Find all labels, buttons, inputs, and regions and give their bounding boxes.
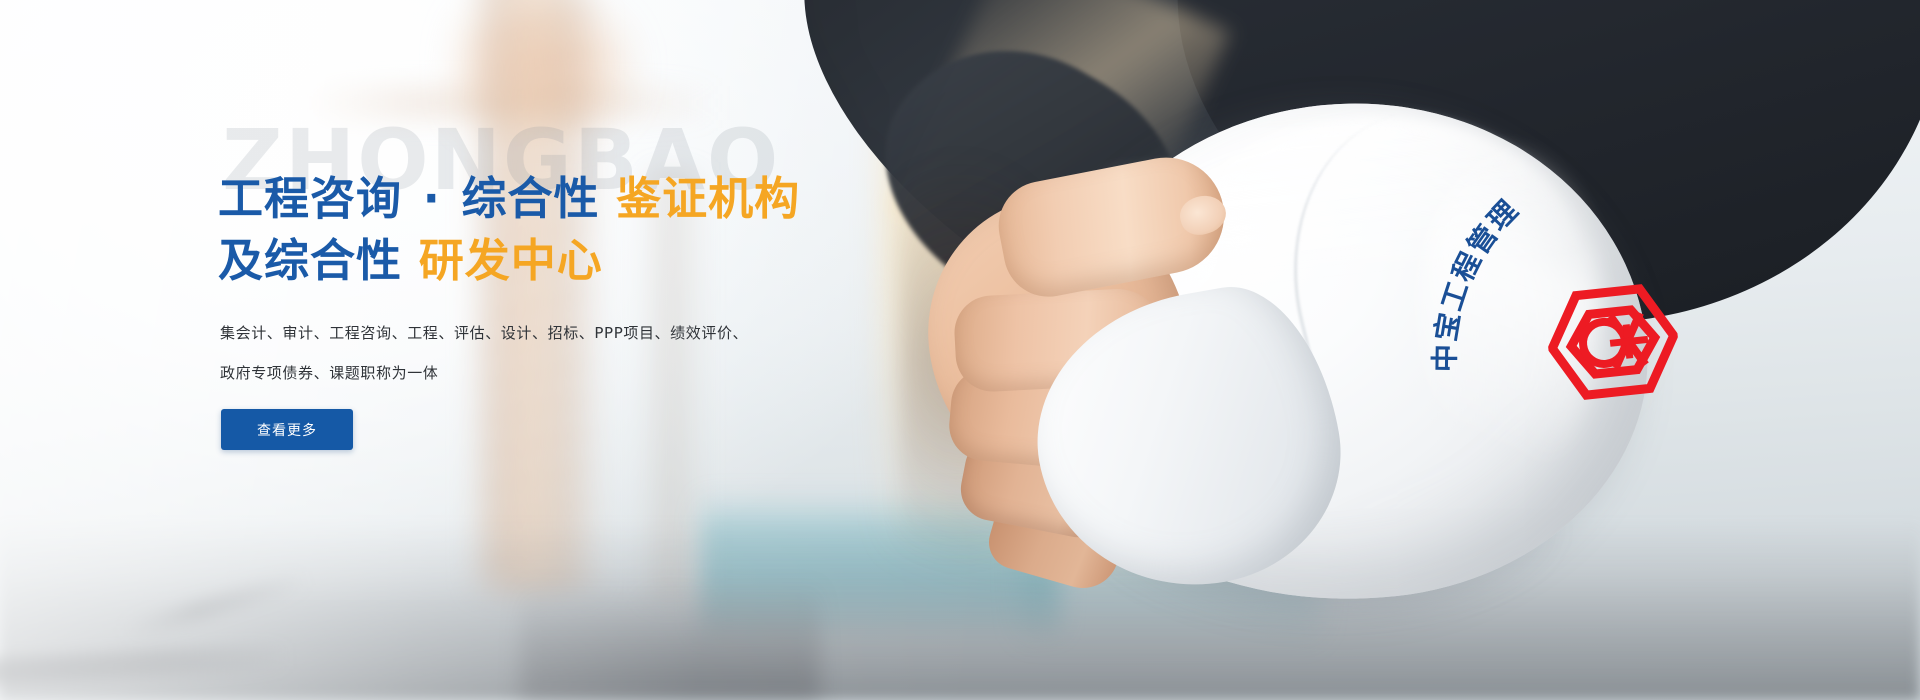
description-line-1: 集会计、审计、工程咨询、工程、评估、设计、招标、PPP项目、绩效评价、 [220, 313, 820, 353]
banner-description: 集会计、审计、工程咨询、工程、评估、设计、招标、PPP项目、绩效评价、 政府专项… [220, 313, 820, 393]
page-title: 工程咨询 · 综合性 鉴证机构 及综合性 研发中心 [218, 168, 800, 292]
view-more-button[interactable]: 查看更多 [221, 409, 353, 450]
headline-l2-part1: 及综合性 [218, 234, 402, 287]
hero-banner: 中宝工程管理 [0, 0, 1920, 700]
description-line-2: 政府专项债券、课题职称为一体 [220, 353, 820, 393]
headline-l1-accent: 鉴证机构 [616, 172, 800, 225]
headline-line-2: 及综合性 研发中心 [218, 230, 800, 292]
headline-l1-part1: 工程咨询 [218, 172, 402, 225]
headline-separator-dot: · [419, 172, 445, 225]
company-emblem-icon [1543, 280, 1684, 405]
headline-l1-part2: 综合性 [461, 172, 599, 225]
headline-l2-accent: 研发中心 [419, 234, 603, 287]
headline-line-1: 工程咨询 · 综合性 鉴证机构 [218, 168, 800, 230]
hard-hat-brand-label: 中宝工程管理 [1428, 193, 1525, 373]
